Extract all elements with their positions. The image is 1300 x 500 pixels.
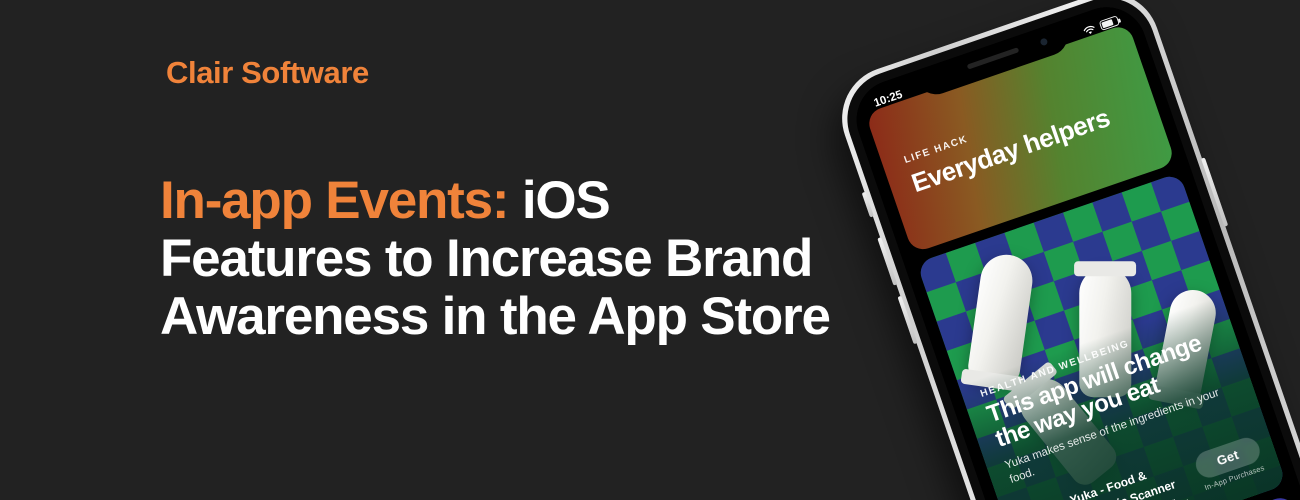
headline-accent: In-app Events: [160, 171, 508, 230]
page-title: In-app Events: iOS Features to Increase … [160, 172, 940, 345]
status-bar-time: 10:25 [872, 89, 904, 110]
wifi-icon [1082, 23, 1098, 38]
phone-screen: 10:25 [846, 0, 1300, 500]
headline-line-2: Features to Increase Brand [160, 230, 940, 288]
phone-bezel: 10:25 [834, 0, 1300, 500]
phone-mockup: 10:25 [828, 0, 1300, 500]
status-bar-indicators [1082, 15, 1121, 37]
phone-frame: 10:25 [828, 0, 1300, 500]
brand-logo-text: Clair Software [166, 55, 369, 91]
battery-icon [1099, 15, 1120, 31]
headline-line-3: Awareness in the App Store [160, 288, 940, 346]
headline-line-1: In-app Events: iOS [160, 172, 940, 230]
promo-banner: Clair Software In-app Events: iOS Featur… [0, 0, 1300, 500]
headline-line-1-rest: iOS [508, 171, 609, 230]
